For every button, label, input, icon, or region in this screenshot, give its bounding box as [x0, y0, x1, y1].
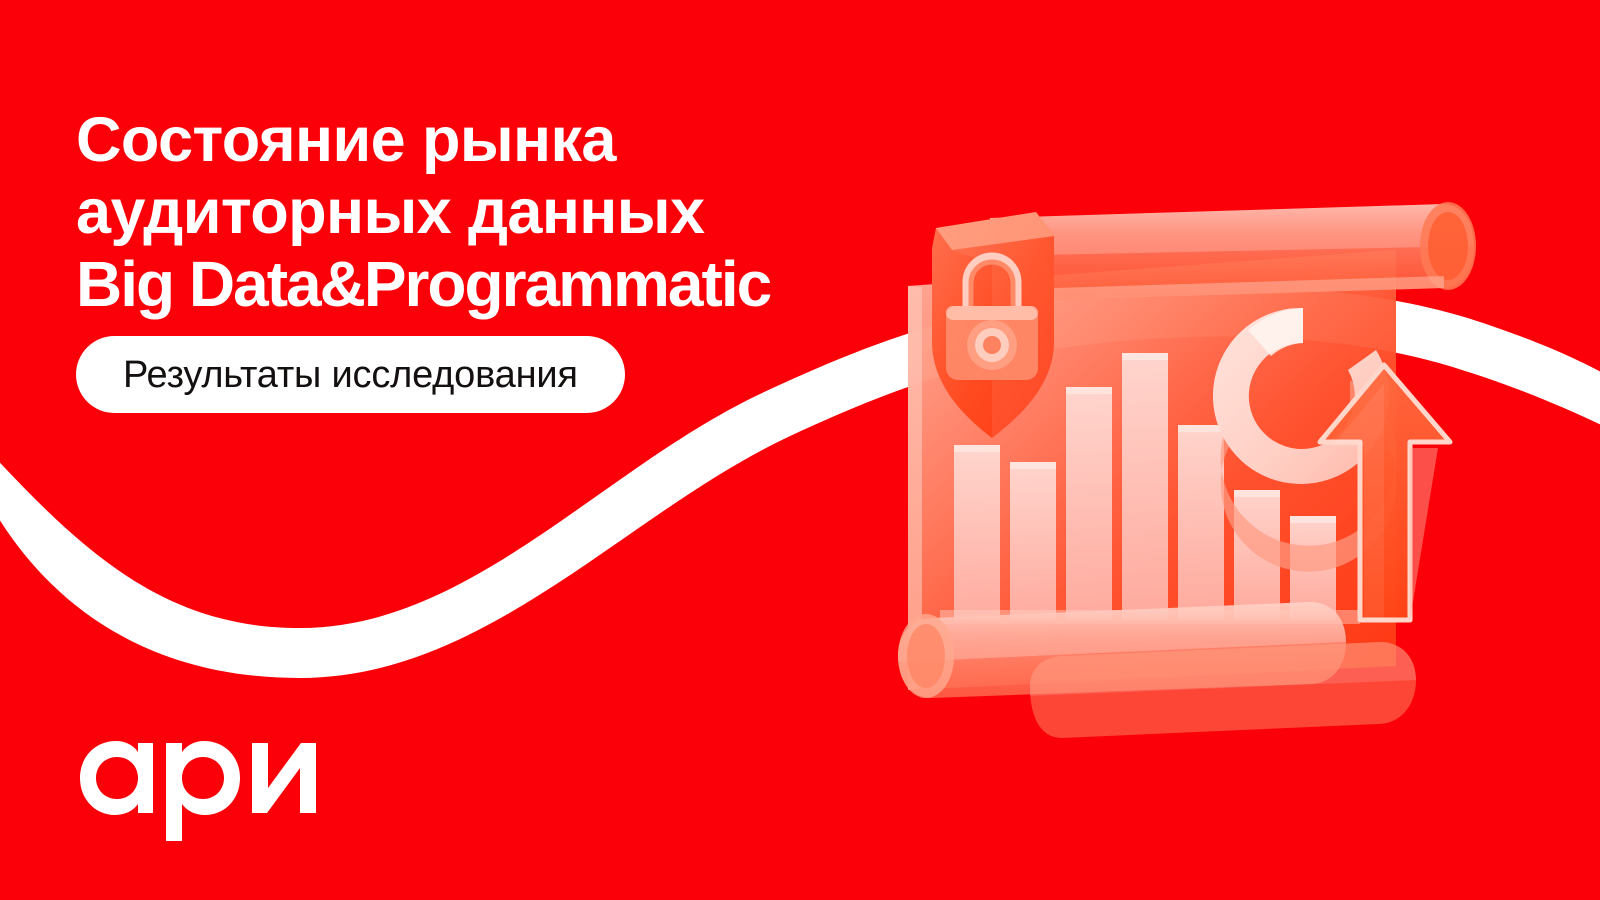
bar-4 [1122, 353, 1168, 620]
results-badge[interactable]: Результаты исследования [76, 336, 625, 413]
promo-banner: Состояние рынка аудиторных данных Big Da… [0, 0, 1600, 900]
headline-line-3: Big Data&Programmatic [76, 248, 770, 320]
bar-2 [1010, 462, 1056, 620]
headline-line-2: аудиторных данных [76, 176, 770, 248]
headline-line-1: Состояние рынка [76, 104, 770, 176]
arir-logo[interactable] [78, 733, 318, 843]
scroll-top-roll [990, 202, 1476, 302]
page-title: Состояние рынка аудиторных данных Big Da… [76, 104, 770, 320]
scroll-report-3d-illustration [840, 190, 1500, 810]
bar-1 [954, 445, 1000, 620]
bar-3 [1066, 387, 1112, 620]
scroll-bottom-roll [898, 602, 1416, 738]
results-badge-label: Результаты исследования [123, 356, 578, 394]
bar-5 [1178, 425, 1224, 620]
